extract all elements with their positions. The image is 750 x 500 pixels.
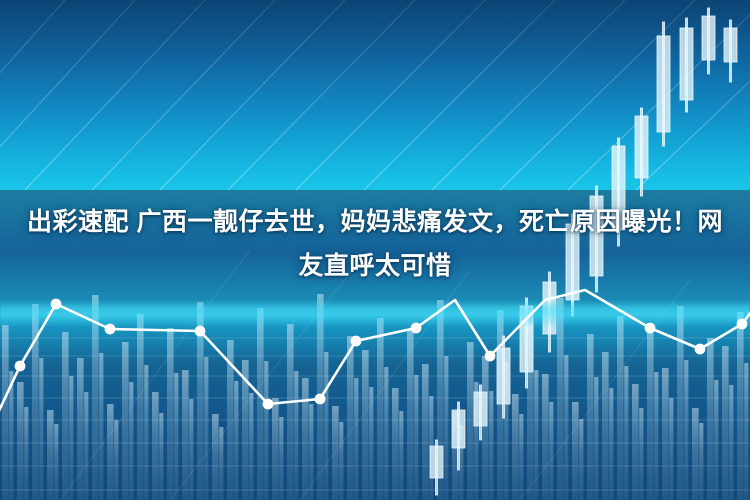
line-marker	[15, 361, 26, 372]
banner-image: 出彩速配 广西一靓仔去世，妈妈悲痛发文，死亡原因曝光！网 友直呼太可惜	[0, 0, 750, 500]
line-marker	[105, 324, 116, 335]
line-marker	[695, 344, 706, 355]
line-marker	[315, 394, 326, 405]
trend-line-markers	[15, 299, 748, 410]
line-marker	[195, 326, 206, 337]
trend-line-path	[0, 290, 750, 430]
line-marker	[411, 323, 422, 334]
headline-line-1: 出彩速配 广西一靓仔去世，妈妈悲痛发文，死亡原因曝光！网	[0, 200, 750, 244]
line-marker	[351, 336, 362, 347]
headline-line-2: 友直呼太可惜	[0, 244, 750, 288]
line-marker	[485, 351, 496, 362]
line-marker	[645, 323, 656, 334]
line-marker	[263, 399, 274, 410]
line-marker	[51, 299, 62, 310]
line-marker	[737, 319, 748, 330]
headline-overlay: 出彩速配 广西一靓仔去世，妈妈悲痛发文，死亡原因曝光！网 友直呼太可惜	[0, 200, 750, 288]
